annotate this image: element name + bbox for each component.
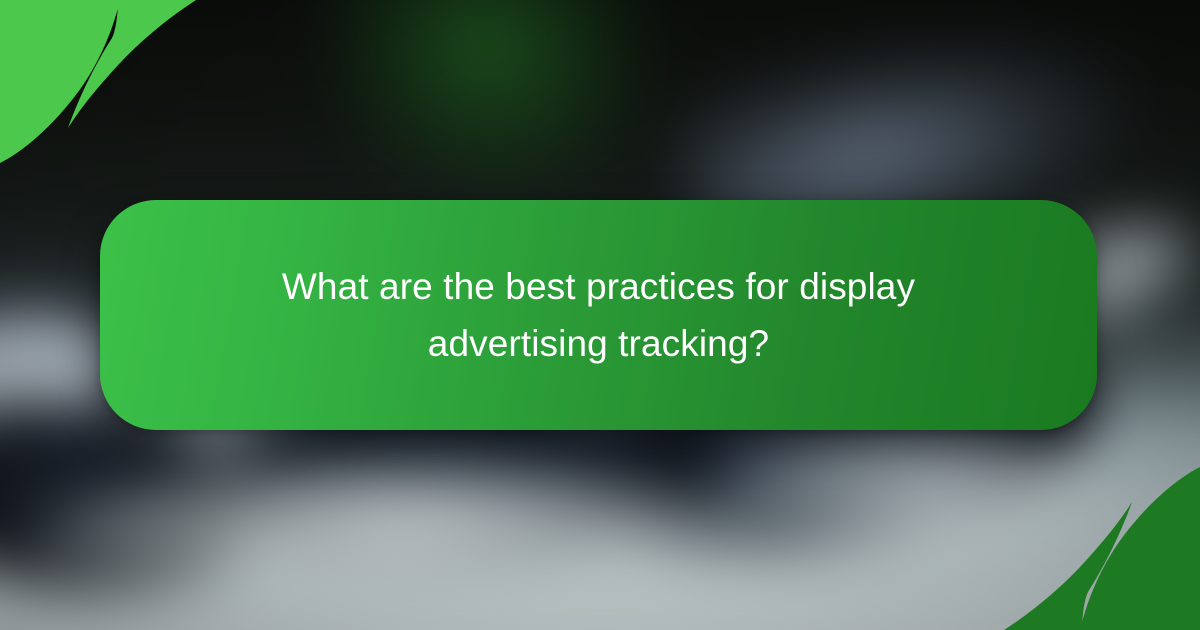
question-title: What are the best practices for display … bbox=[249, 258, 949, 372]
question-card: What are the best practices for display … bbox=[100, 200, 1097, 430]
social-card-banner: What are the best practices for display … bbox=[0, 0, 1200, 630]
